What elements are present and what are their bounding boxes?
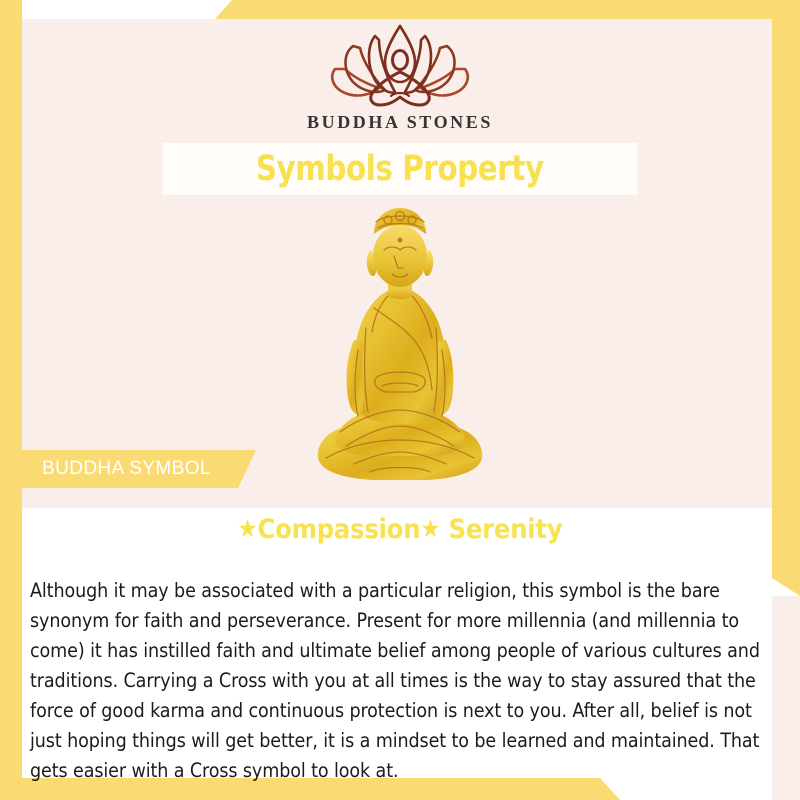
decoration-top-bar	[215, 0, 800, 19]
description-paragraph: Although it may be associated with a par…	[30, 576, 772, 786]
star-icon-left: ★	[238, 514, 258, 543]
category-ribbon-label: BUDDHA SYMBOL	[0, 458, 211, 480]
hero-image	[0, 200, 800, 490]
lotus-meditation-icon	[327, 22, 473, 108]
tagline-word-two: Serenity	[449, 514, 563, 545]
tagline: ★Compassion★ Serenity	[0, 514, 800, 545]
bottom-right-pink-fill	[772, 596, 800, 800]
brand-name: BUDDHA STONES	[0, 112, 800, 133]
tagline-word-one: Compassion	[257, 514, 420, 545]
seated-buddha-statue	[310, 200, 490, 490]
poster-root: BUDDHA STONES Symbols Property	[0, 0, 800, 800]
category-ribbon: BUDDHA SYMBOL	[0, 450, 256, 488]
brand-block: BUDDHA STONES	[0, 22, 800, 133]
page-title: Symbols Property	[256, 149, 544, 189]
title-band: Symbols Property	[163, 143, 637, 195]
star-icon-right: ★	[420, 514, 440, 543]
